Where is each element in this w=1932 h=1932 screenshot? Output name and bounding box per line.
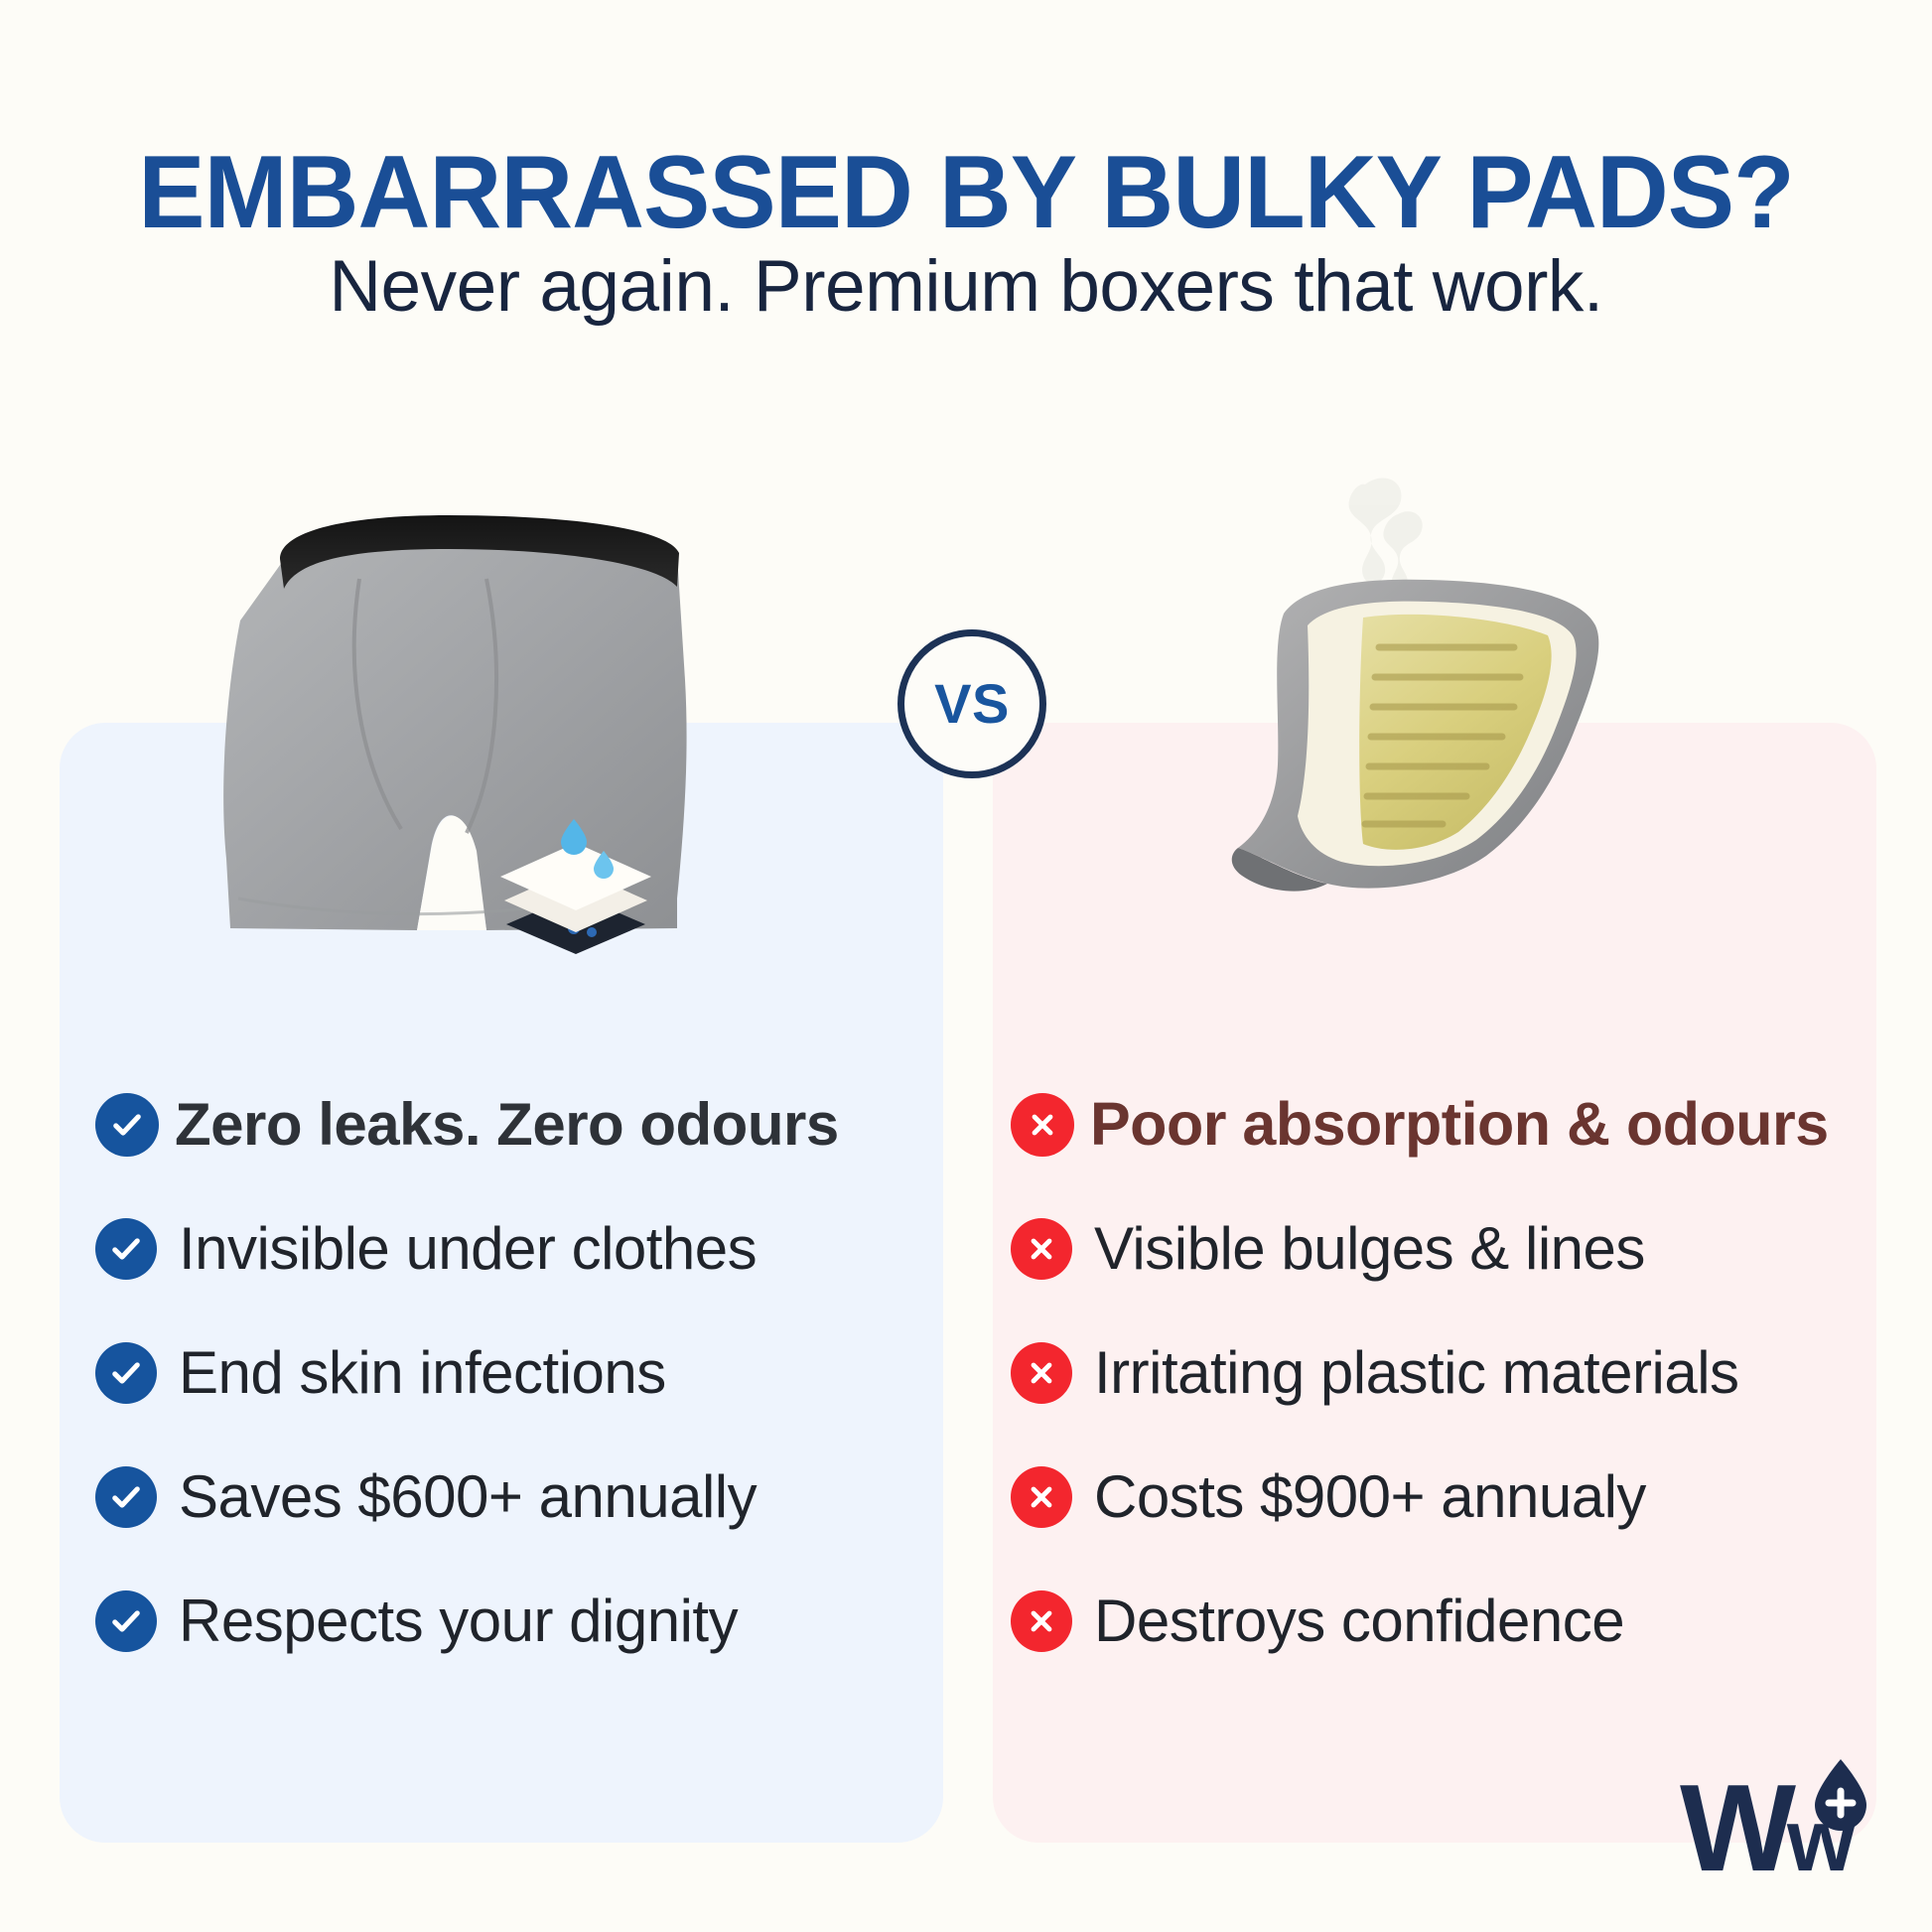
cross-circle-icon [1011, 1466, 1072, 1528]
list-item-label: Irritating plastic materials [1094, 1341, 1739, 1404]
list-item: End skin infections [95, 1311, 949, 1435]
drawbacks-list: Poor absorption & odours Visible bulges … [1011, 1062, 1904, 1683]
list-item-label: Invisible under clothes [179, 1217, 757, 1280]
vs-badge: VS [897, 629, 1046, 778]
list-item-label: Respects your dignity [179, 1589, 738, 1652]
list-item: Destroys confidence [1011, 1559, 1904, 1683]
check-circle-icon [95, 1093, 159, 1157]
page-subtitle: Never again. Premium boxers that work. [0, 250, 1932, 323]
list-item-label: Poor absorption & odours [1090, 1092, 1829, 1156]
list-item-label: Saves $600+ annually [179, 1465, 757, 1528]
vs-badge-label: VS [934, 676, 1010, 732]
list-item: Zero leaks. Zero odours [95, 1062, 949, 1186]
list-item: Poor absorption & odours [1011, 1062, 1904, 1186]
benefits-list: Zero leaks. Zero odours Invisible under … [95, 1062, 949, 1683]
list-item-label: Destroys confidence [1094, 1589, 1624, 1652]
boxer-brief-image [189, 501, 715, 958]
cross-circle-icon [1011, 1218, 1072, 1280]
list-item: Saves $600+ annually [95, 1435, 949, 1559]
list-item-label: Visible bulges & lines [1094, 1217, 1645, 1280]
check-circle-icon [95, 1466, 157, 1528]
check-circle-icon [95, 1342, 157, 1404]
brand-logo: W w [1680, 1753, 1888, 1902]
incontinence-pad-image [1216, 467, 1643, 933]
cross-circle-icon [1011, 1093, 1074, 1157]
ad-canvas: EMBARRASSED BY BULKY PADS? Never again. … [0, 0, 1932, 1932]
list-item-label: Zero leaks. Zero odours [175, 1093, 839, 1156]
page-title: EMBARRASSED BY BULKY PADS? [29, 141, 1903, 244]
list-item: Respects your dignity [95, 1559, 949, 1683]
list-item-label: Costs $900+ annualy [1094, 1465, 1646, 1528]
list-item: Costs $900+ annualy [1011, 1435, 1904, 1559]
list-item: Invisible under clothes [95, 1186, 949, 1311]
list-item: Irritating plastic materials [1011, 1311, 1904, 1435]
check-circle-icon [95, 1218, 157, 1280]
check-circle-icon [95, 1590, 157, 1652]
list-item-label: End skin infections [179, 1341, 666, 1404]
list-item: Visible bulges & lines [1011, 1186, 1904, 1311]
cross-circle-icon [1011, 1342, 1072, 1404]
cross-circle-icon [1011, 1590, 1072, 1652]
logo-wordmark-big: W [1680, 1760, 1796, 1897]
droplet-icon [1815, 1759, 1866, 1831]
